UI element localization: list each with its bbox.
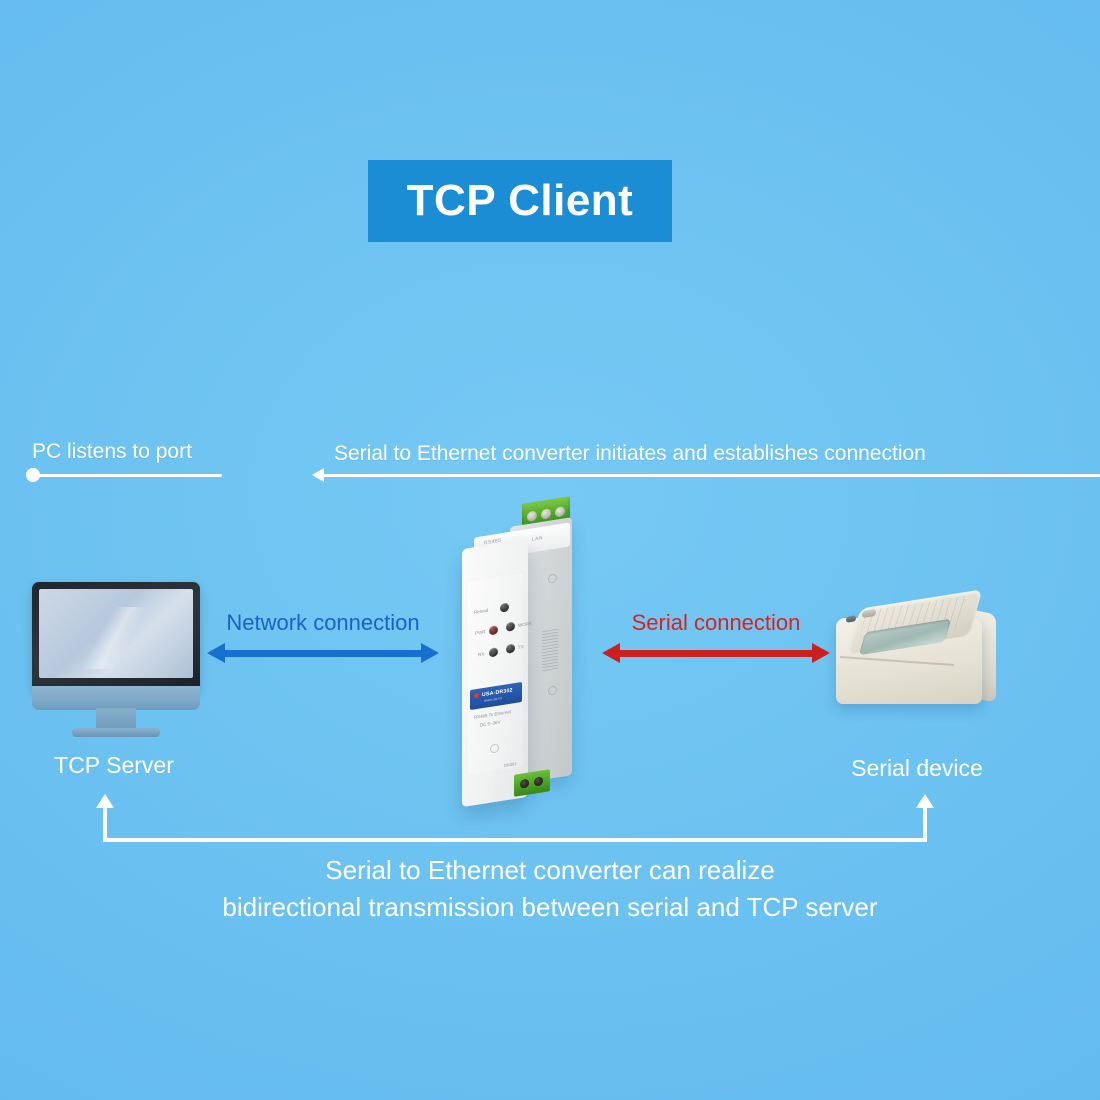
terminal-screw-icon [555, 506, 565, 518]
barcode-sticker-icon [542, 629, 558, 672]
bracket-horizontal-line [103, 838, 927, 842]
serial-connection-arrow: Serial connection [600, 610, 832, 670]
tcp-server-label: TCP Server [0, 752, 228, 779]
diagram-canvas: TCP Client PC listens to port Serial to … [0, 0, 1100, 1100]
monitor-screen [39, 589, 193, 678]
serial-device-node [832, 588, 1002, 712]
title-banner: TCP Client [368, 160, 672, 242]
monitor-stand-base [72, 728, 160, 737]
network-connection-label: Network connection [205, 610, 441, 636]
tcp-server-node [32, 582, 200, 722]
monitor-stand-neck [96, 708, 136, 730]
page-title: TCP Client [407, 179, 634, 223]
terminal-hole-icon [520, 778, 529, 788]
annotation-pc-listens-to-port: PC listens to port [32, 440, 192, 464]
bracket-left-stem [103, 806, 107, 842]
led-rx-label: RX [478, 651, 484, 657]
bottom-caption-line-2: bidirectional transmission between seria… [0, 889, 1100, 926]
serial-connection-label: Serial connection [600, 610, 832, 636]
brand-logo-icon [474, 693, 479, 699]
annotation-converter-initiates: Serial to Ethernet converter initiates a… [334, 442, 926, 466]
bottom-caption: Serial to Ethernet converter can realize… [0, 852, 1100, 926]
serial-arrow-shaft [618, 650, 814, 657]
annotation-right-rule [318, 474, 1100, 477]
network-arrow-right-head-icon [421, 643, 439, 663]
bottom-caption-line-1: Serial to Ethernet converter can realize [0, 852, 1100, 889]
network-connection-arrow: Network connection [205, 610, 441, 670]
terminal-screw-icon [527, 510, 537, 522]
terminal-screw-icon [541, 508, 551, 520]
bracket-right-stem [923, 806, 927, 842]
monitor-chin [32, 686, 200, 710]
serial-to-ethernet-converter-node: RS485 LAN Reload PWR WORK RX TX USA-DR30… [452, 500, 592, 800]
serial-device-label: Serial device [802, 755, 1032, 782]
bracket-right-arrowhead-icon [916, 794, 934, 808]
annotation-left-dot-icon [26, 468, 40, 482]
serial-arrow-right-head-icon [812, 643, 830, 663]
annotation-left-rule [32, 474, 222, 477]
monitor-screen-glare [57, 607, 173, 669]
bottom-terminal-block [514, 769, 550, 797]
annotation-left-arrowhead-icon [312, 468, 324, 482]
network-arrow-shaft [223, 650, 423, 657]
terminal-hole-icon [534, 776, 543, 786]
monitor-bezel [32, 582, 200, 692]
led-tx-label: TX [518, 644, 524, 650]
